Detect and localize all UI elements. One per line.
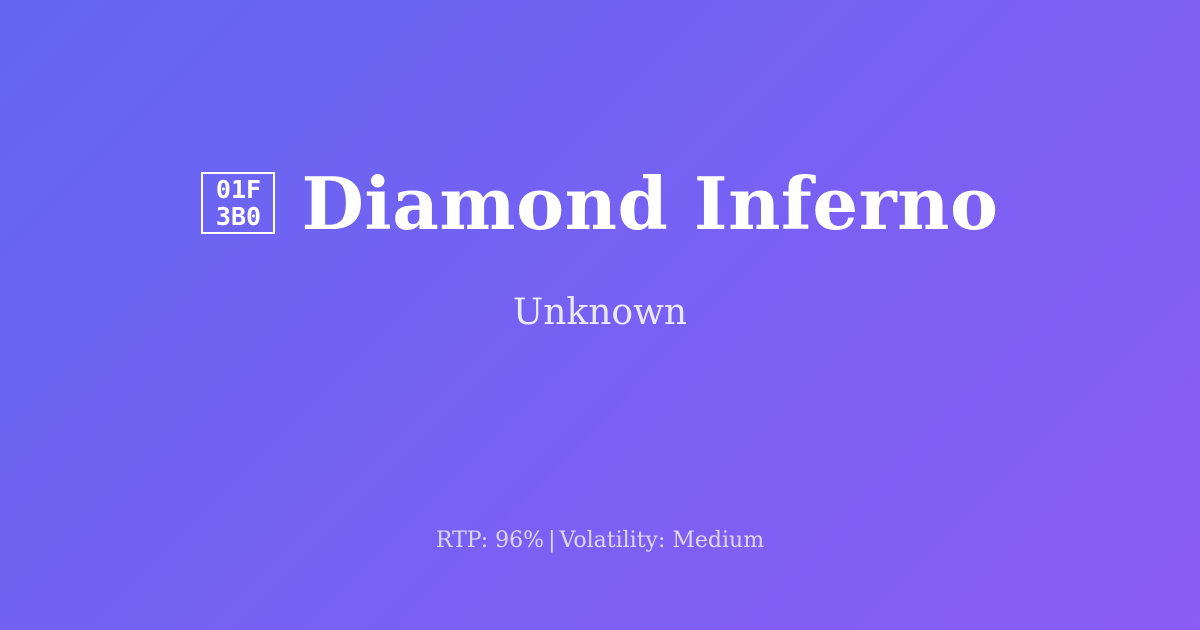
volatility-value: Volatility: Medium bbox=[560, 528, 765, 553]
tofu-codepoint-row-bottom: 3B0 bbox=[216, 203, 261, 230]
og-share-card: 01F 3B0 Diamond Inferno Unknown RTP: 96%… bbox=[0, 0, 1200, 630]
game-meta-line: RTP: 96%|Volatility: Medium bbox=[0, 527, 1200, 556]
hero-block: 01F 3B0 Diamond Inferno Unknown bbox=[0, 0, 1200, 500]
slot-machine-icon: 01F 3B0 bbox=[201, 172, 275, 234]
meta-separator: | bbox=[544, 528, 559, 553]
title-row: 01F 3B0 Diamond Inferno bbox=[60, 166, 1140, 242]
page-title: Diamond Inferno bbox=[301, 166, 998, 242]
rtp-value: RTP: 96% bbox=[436, 528, 544, 553]
tofu-codepoint-row-top: 01F bbox=[216, 176, 261, 203]
provider-label: Unknown bbox=[513, 291, 687, 334]
